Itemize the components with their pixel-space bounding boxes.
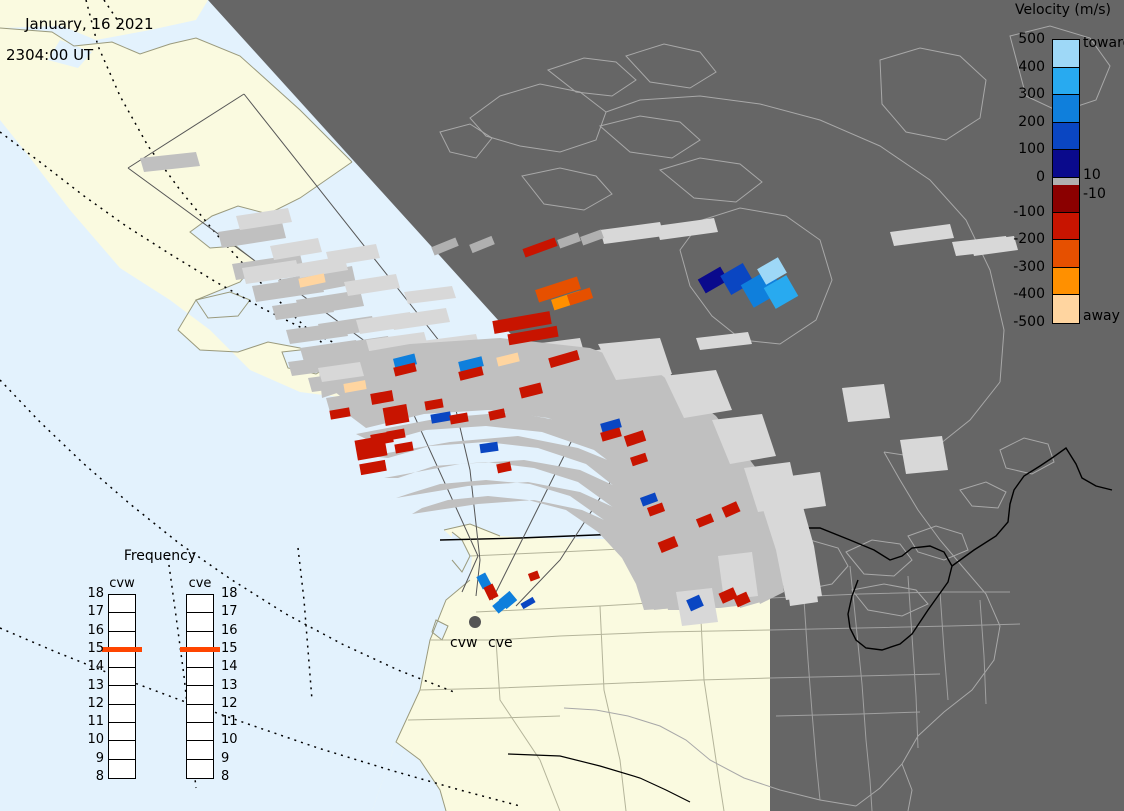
colorbar-segment-3 — [1053, 123, 1079, 151]
colorbar-annotations: toward10-10away — [1083, 39, 1124, 329]
ground-scatter-patch — [390, 308, 450, 330]
frequency-tick-8: 8 — [78, 770, 104, 783]
frequency-bar-cell — [109, 650, 135, 668]
frequency-tick-12: 12 — [78, 697, 104, 710]
radar-site-dot — [469, 616, 481, 628]
velocity-cell — [431, 237, 458, 255]
frequency-tick-13: 13 — [78, 679, 104, 692]
radar-site-label-cvw: cvw — [450, 635, 477, 651]
frequency-tick-14: 14 — [221, 660, 247, 673]
velocity-map-screenshot: January, 16 2021 2304:00 UT Velocity (m/… — [0, 0, 1124, 811]
frequency-tick-16: 16 — [221, 624, 247, 637]
frequency-bar-cell — [187, 760, 213, 778]
colorbar-note-negative-threshold: -10 — [1083, 187, 1106, 201]
timestamp-time: 2304:00 UT — [6, 48, 154, 63]
colorbar-tick-neg200: -200 — [1013, 232, 1045, 246]
colorbar-tick-labels: 5004003002001000-100-200-300-400-500 — [1002, 39, 1048, 324]
colorbar-segment-2 — [1053, 95, 1079, 123]
timestamp-overlay: January, 16 2021 2304:00 UT — [6, 2, 154, 93]
frequency-bar-cell — [109, 595, 135, 613]
ground-scatter-patch — [900, 436, 948, 474]
colorbar-note-away: away — [1083, 309, 1120, 323]
ground-scatter-patch — [790, 472, 826, 510]
frequency-bar-cell — [109, 705, 135, 723]
velocity-cell — [479, 442, 498, 453]
frequency-bar-label-cve: cve — [180, 576, 220, 591]
frequency-bar-label-cvw: cvw — [102, 576, 142, 591]
ground-scatter-patch — [404, 286, 456, 304]
colorbar-segment-4 — [1053, 150, 1079, 178]
colorbar-segment-0 — [1053, 40, 1079, 68]
colorbar-tick-500: 500 — [1018, 32, 1045, 46]
frequency-bar-cell — [109, 741, 135, 759]
frequency-bar-cell — [109, 760, 135, 778]
frequency-ticks-cvw: 18171615141312111098 — [80, 594, 106, 779]
frequency-tick-18: 18 — [78, 587, 104, 600]
colorbar-note-toward: toward — [1083, 36, 1124, 50]
velocity-cell — [520, 597, 535, 609]
ground-scatter-patch — [784, 556, 818, 606]
frequency-tick-11: 11 — [78, 715, 104, 728]
frequency-tick-11: 11 — [221, 715, 247, 728]
frequency-legend-title: Frequency — [84, 548, 236, 564]
frequency-bar-cell — [187, 686, 213, 704]
frequency-marker-cve — [180, 647, 220, 652]
frequency-bar-cell — [109, 668, 135, 686]
frequency-tick-8: 8 — [221, 770, 247, 783]
velocity-cell — [394, 442, 413, 454]
colorbar-title: Velocity (m/s) — [1002, 2, 1124, 18]
frequency-bar-cell — [187, 650, 213, 668]
frequency-ticks-cve: 18171615141312111098 — [218, 594, 244, 779]
velocity-cell — [557, 233, 581, 249]
ground-scatter-patch — [890, 224, 954, 246]
velocity-cell — [528, 571, 540, 582]
colorbar-segment-10 — [1053, 295, 1079, 323]
frequency-bar-cell — [187, 723, 213, 741]
frequency-bar-cell — [187, 668, 213, 686]
frequency-bar-cell — [187, 741, 213, 759]
frequency-tick-17: 17 — [78, 605, 104, 618]
frequency-tick-10: 10 — [78, 733, 104, 746]
colorbar-segment-6 — [1053, 185, 1079, 213]
colorbar-tick-neg400: -400 — [1013, 287, 1045, 301]
colorbar-segment-9 — [1053, 268, 1079, 296]
velocity-cell — [469, 236, 495, 253]
frequency-marker-cvw — [102, 647, 142, 652]
ground-scatter-patch — [656, 218, 718, 240]
colorbar-segment-5 — [1053, 178, 1079, 185]
frequency-tick-9: 9 — [221, 752, 247, 765]
colorbar-tick-400: 400 — [1018, 60, 1045, 74]
velocity-colorbar: Velocity (m/s) 5004003002001000-100-200-… — [1002, 2, 1124, 332]
frequency-tick-18: 18 — [221, 587, 247, 600]
velocity-cell — [359, 460, 387, 475]
frequency-tick-10: 10 — [221, 733, 247, 746]
colorbar-segment-1 — [1053, 68, 1079, 96]
frequency-tick-17: 17 — [221, 605, 247, 618]
ground-scatter-patch — [842, 384, 890, 422]
colorbar-tick-200: 200 — [1018, 115, 1045, 129]
frequency-bar-cvw — [108, 594, 136, 779]
frequency-bar-cell — [187, 705, 213, 723]
ground-scatter-patch — [600, 222, 664, 244]
radar-site-label-cve: cve — [488, 635, 513, 651]
ground-scatter-patch — [140, 152, 200, 172]
timestamp-date: January, 16 2021 — [25, 15, 153, 33]
frequency-tick-15: 15 — [78, 642, 104, 655]
ground-scatter-patch — [326, 244, 380, 266]
frequency-bar-cell — [109, 723, 135, 741]
velocity-cell — [522, 237, 557, 257]
frequency-bar-cve — [186, 594, 214, 779]
frequency-bar-cell — [187, 595, 213, 613]
frequency-bar-cell — [109, 613, 135, 631]
frequency-tick-12: 12 — [221, 697, 247, 710]
colorbar-tick-100: 100 — [1018, 142, 1045, 156]
frequency-bar-cell — [187, 613, 213, 631]
ground-scatter-patch — [696, 332, 752, 350]
frequency-tick-9: 9 — [78, 752, 104, 765]
colorbar-tick-neg300: -300 — [1013, 260, 1045, 274]
frequency-tick-16: 16 — [78, 624, 104, 637]
frequency-tick-13: 13 — [221, 679, 247, 692]
frequency-legend: Frequency cvw18171615141312111098cve1817… — [84, 548, 244, 788]
velocity-cell — [580, 230, 604, 246]
colorbar-segment-8 — [1053, 240, 1079, 268]
colorbar-tick-0: 0 — [1036, 170, 1045, 184]
frequency-tick-15: 15 — [221, 642, 247, 655]
colorbar-tick-neg500: -500 — [1013, 315, 1045, 329]
colorbar-tick-neg100: -100 — [1013, 205, 1045, 219]
colorbar-segment-7 — [1053, 213, 1079, 241]
frequency-bar-cell — [109, 686, 135, 704]
colorbar-tick-300: 300 — [1018, 87, 1045, 101]
frequency-tick-14: 14 — [78, 660, 104, 673]
colorbar-note-positive-threshold: 10 — [1083, 168, 1101, 182]
colorbar-gradient-bar — [1052, 39, 1080, 324]
